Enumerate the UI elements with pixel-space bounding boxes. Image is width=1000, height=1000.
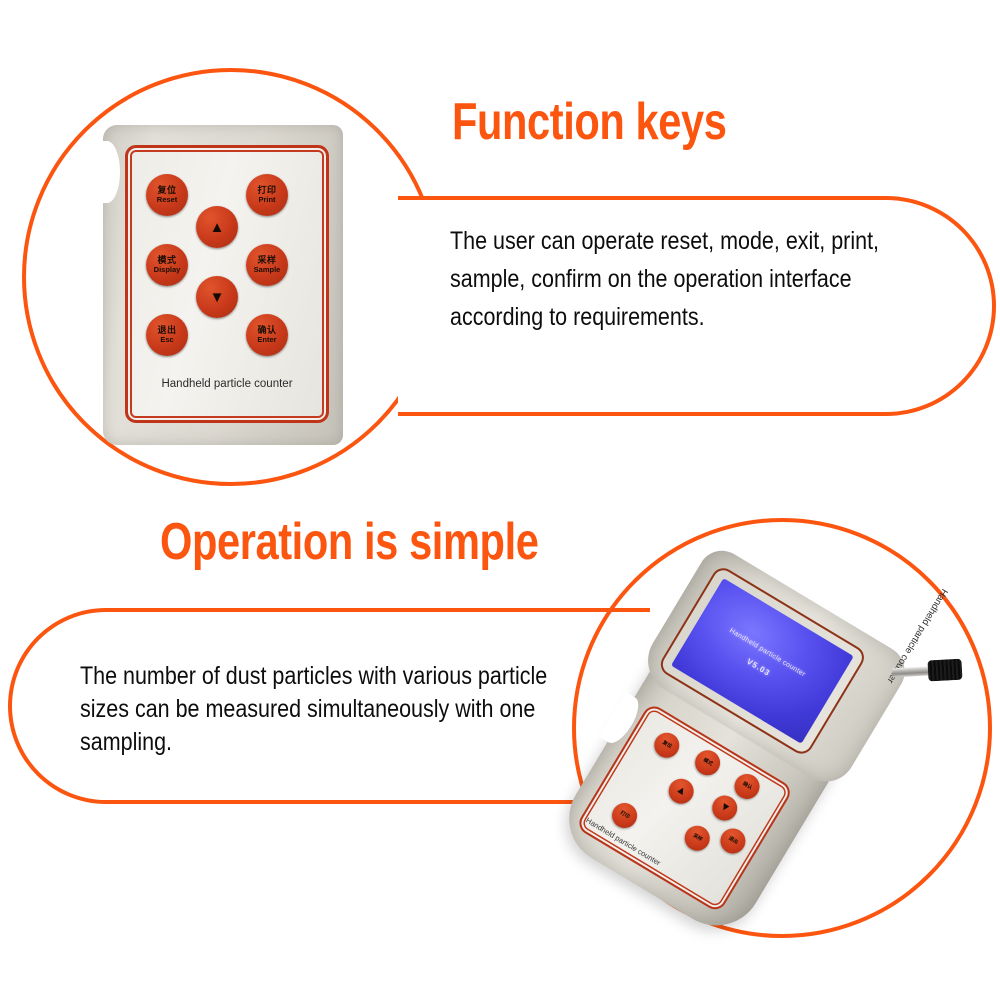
keypad-caption: Handheld particle counter [128, 378, 326, 390]
up-arrow-icon: ▲ [210, 220, 225, 235]
key-esc-en: Esc [160, 336, 173, 344]
device-key-up[interactable]: ▲ [664, 774, 698, 808]
keypad-faceplate: 复位 Reset 打印 Print ▲ 模式 Display 采样 Sample… [125, 145, 329, 423]
device-key-sample[interactable]: 采样 [680, 821, 714, 855]
down-arrow-icon: ▼ [210, 290, 225, 305]
keypad-body-notch [94, 141, 120, 203]
key-display[interactable]: 模式 Display [146, 244, 188, 286]
device-key-display-label: 模式 [702, 758, 713, 768]
key-enter[interactable]: 确认 Enter [246, 314, 288, 356]
heading-function-keys: Function keys [452, 92, 727, 152]
key-reset[interactable]: 复位 Reset [146, 174, 188, 216]
key-display-cn: 模式 [157, 256, 176, 265]
key-down-arrow[interactable]: ▼ [196, 276, 238, 318]
device-key-reset[interactable]: 复位 [650, 728, 684, 762]
key-display-en: Display [154, 266, 181, 274]
device-key-sample-label: 采样 [692, 833, 703, 843]
lcd-title-text: Handheld particle counter [700, 611, 834, 695]
key-esc-cn: 退出 [157, 326, 176, 335]
key-enter-en: Enter [257, 336, 276, 344]
key-print[interactable]: 打印 Print [246, 174, 288, 216]
device-photo: Handheld particle counter V5.03 Handheld… [566, 560, 966, 940]
key-sample-en: Sample [254, 266, 281, 274]
body-operation-simple: The number of dust particles with variou… [80, 660, 562, 759]
key-print-cn: 打印 [257, 186, 276, 195]
device-key-esc-label: 退出 [727, 836, 738, 846]
probe-cap-icon [927, 659, 962, 682]
infographic-canvas: Function keys The user can operate reset… [0, 0, 1000, 1000]
lcd-version-text: V5.03 [691, 624, 826, 710]
device-up-arrow-icon: ▲ [674, 783, 689, 799]
device-key-down[interactable]: ▼ [708, 791, 742, 825]
device-key-enter[interactable]: 确认 [730, 769, 764, 803]
device-key-print-label: 打印 [619, 811, 630, 821]
key-sample[interactable]: 采样 Sample [246, 244, 288, 286]
device-key-print[interactable]: 打印 [607, 798, 641, 832]
body-function-keys: The user can operate reset, mode, exit, … [450, 222, 914, 336]
device-key-display[interactable]: 模式 [690, 746, 724, 780]
key-reset-cn: 复位 [157, 186, 176, 195]
device-key-enter-label: 确认 [741, 782, 752, 792]
device-key-reset-label: 复位 [661, 740, 672, 750]
mask-top-callout-inner [402, 200, 882, 208]
key-print-en: Print [258, 196, 275, 204]
key-reset-en: Reset [157, 196, 177, 204]
key-up-arrow[interactable]: ▲ [196, 206, 238, 248]
key-esc[interactable]: 退出 Esc [146, 314, 188, 356]
heading-operation-simple: Operation is simple [160, 512, 538, 572]
device-rotated-wrapper: Handheld particle counter V5.03 Handheld… [552, 551, 902, 942]
sampling-probe [892, 659, 963, 683]
key-sample-cn: 采样 [257, 256, 276, 265]
device-down-arrow-icon: ▼ [717, 800, 732, 816]
key-enter-cn: 确认 [257, 326, 276, 335]
device-key-esc[interactable]: 退出 [716, 824, 750, 858]
keypad-closeup-photo: 复位 Reset 打印 Print ▲ 模式 Display 采样 Sample… [103, 125, 343, 445]
